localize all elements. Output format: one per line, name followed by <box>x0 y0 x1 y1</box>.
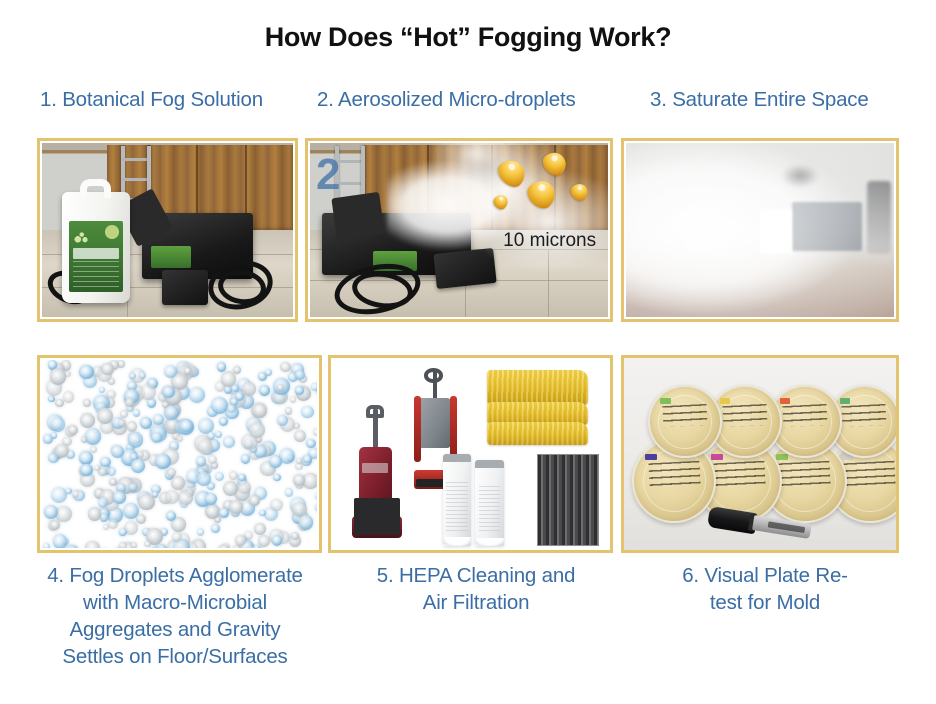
plate-color-tab <box>720 398 730 404</box>
fog-droplet <box>219 417 228 426</box>
fog-droplet <box>80 413 96 429</box>
fog-droplet <box>50 368 66 384</box>
air-purifier <box>443 454 504 546</box>
fog-droplet <box>273 474 281 482</box>
microfiber-towels <box>487 370 587 447</box>
oil-droplet-icons <box>492 153 599 233</box>
fog-droplet <box>265 369 272 376</box>
fog-droplet <box>172 532 182 542</box>
fog-droplet <box>215 472 224 481</box>
fog-droplet <box>285 407 293 415</box>
fog-droplet <box>55 399 64 408</box>
step-1-caption: 1. Botanical Fog Solution <box>40 88 263 112</box>
fog-droplet <box>208 455 217 464</box>
fog-droplet <box>79 451 93 465</box>
fog-droplet <box>164 406 179 421</box>
fog-overlay <box>626 143 894 317</box>
fog-droplet <box>235 535 246 546</box>
fog-droplet <box>217 362 226 371</box>
fog-droplet <box>223 481 238 496</box>
fog-droplet <box>119 542 127 548</box>
page-title: How Does “Hot” Fogging Work? <box>0 22 936 53</box>
fog-droplet <box>223 436 235 448</box>
fog-droplet <box>72 490 79 497</box>
fog-droplet <box>196 456 206 466</box>
plate-color-tab <box>645 454 657 460</box>
fog-droplet <box>294 430 306 442</box>
fog-droplet <box>133 409 141 417</box>
fog-droplet <box>113 491 126 504</box>
fog-droplet <box>277 384 284 391</box>
fog-droplet <box>290 396 297 403</box>
step-2-photo: 2 10 microns <box>310 143 608 317</box>
step-1-photo <box>42 143 293 317</box>
fog-droplet <box>131 542 138 548</box>
fog-droplet <box>97 408 113 424</box>
plate-handwritten-label <box>782 404 827 427</box>
droplet-icon <box>491 192 510 211</box>
fog-droplet <box>139 372 146 379</box>
step-6-photo <box>624 358 896 550</box>
plate-handwritten-label <box>844 460 896 487</box>
fog-droplet <box>197 528 204 535</box>
fog-droplet <box>242 382 255 395</box>
fog-droplet <box>253 403 268 418</box>
fog-droplet <box>215 431 222 438</box>
fog-droplet <box>285 488 294 497</box>
fog-droplet <box>315 492 317 500</box>
step-number-watermark: 2 <box>316 150 340 200</box>
fog-droplet <box>198 418 214 434</box>
petri-dish <box>648 385 721 459</box>
fog-droplet <box>50 520 60 530</box>
fog-droplet <box>108 519 118 529</box>
caption-line: Air Filtration <box>336 589 616 616</box>
fog-droplet <box>301 406 314 419</box>
plate-handwritten-label <box>842 404 887 427</box>
fog-droplet <box>43 543 50 548</box>
fog-droplet <box>219 508 228 517</box>
fog-droplet <box>55 444 68 457</box>
fog-droplet <box>311 383 317 390</box>
fog-droplet <box>166 511 176 521</box>
plate-color-tab <box>840 398 850 404</box>
droplet-icon <box>539 148 570 179</box>
fog-droplet <box>315 503 317 512</box>
fog-droplet <box>131 459 145 473</box>
fog-droplet <box>151 432 162 443</box>
fog-droplet <box>85 428 101 444</box>
fog-droplet <box>270 499 282 511</box>
fog-droplet <box>165 490 179 504</box>
step-1-image-panel <box>37 138 298 322</box>
fog-droplet <box>100 457 111 468</box>
fog-droplet <box>198 439 213 454</box>
fog-droplet <box>227 404 236 413</box>
fog-droplet <box>211 524 220 533</box>
fog-droplet <box>88 507 102 521</box>
fog-droplet <box>98 497 108 507</box>
fog-droplet <box>127 421 137 431</box>
fog-droplet <box>44 505 58 519</box>
fog-droplet <box>101 363 114 376</box>
fog-droplet <box>197 472 210 485</box>
fog-droplet <box>129 373 135 379</box>
fog-droplet <box>79 365 93 379</box>
plate-handwritten-label <box>648 460 701 487</box>
fog-droplet <box>94 465 100 471</box>
fog-droplet <box>299 515 314 530</box>
step-3-image-panel <box>621 138 899 322</box>
caption-line: 5. HEPA Cleaning and <box>336 562 616 589</box>
microns-label: 10 microns <box>503 230 596 252</box>
step-2-caption: 2. Aerosolized Micro-droplets <box>317 88 576 112</box>
fog-droplet <box>269 455 282 468</box>
fog-droplet <box>254 523 266 535</box>
upright-vacuum <box>351 408 404 539</box>
botanical-solution-jug <box>62 192 130 303</box>
step-2-image-panel: 2 10 microns <box>305 138 613 322</box>
caption-line: test for Mold <box>630 589 900 616</box>
fog-droplet <box>128 432 143 447</box>
fog-droplet <box>280 362 290 372</box>
fog-droplet <box>119 528 127 536</box>
fog-droplet <box>85 541 99 548</box>
bottom-caption-row: 4. Fog Droplets Agglomeratewith Macro-Mi… <box>0 562 936 702</box>
caption-line: Aggregates and Gravity <box>20 616 330 643</box>
fog-droplet <box>295 386 304 395</box>
fog-droplet <box>107 467 116 476</box>
fog-droplet <box>144 541 151 548</box>
fog-droplet <box>189 387 206 404</box>
plate-handwritten-label <box>779 460 832 487</box>
step-5-photo <box>331 358 610 550</box>
fog-droplet <box>272 535 282 545</box>
plate-color-tab <box>776 454 788 460</box>
step-4-photo <box>42 360 317 548</box>
fog-droplet <box>211 397 228 414</box>
droplet-icon <box>523 175 561 213</box>
plate-handwritten-label <box>662 404 707 427</box>
power-brick <box>162 270 207 305</box>
fog-droplet <box>83 399 91 407</box>
fog-droplet <box>90 446 98 454</box>
fog-droplet <box>180 420 192 432</box>
step-5-image-panel <box>328 355 613 553</box>
fog-droplet <box>313 428 317 436</box>
fog-droplet <box>63 391 75 403</box>
fog-droplet <box>136 514 146 524</box>
fog-droplet <box>295 463 302 470</box>
fog-droplet <box>171 476 185 490</box>
hepa-filter-panel <box>537 454 598 546</box>
fog-droplet <box>138 494 155 511</box>
caption-line: with Macro-Microbial <box>20 589 330 616</box>
fog-droplet <box>221 371 237 387</box>
fog-droplet <box>205 493 217 505</box>
plate-color-tab <box>780 398 790 404</box>
droplet-icon <box>494 155 531 192</box>
fog-droplet <box>109 478 117 486</box>
caption-line: 4. Fog Droplets Agglomerate <box>20 562 330 589</box>
plate-color-tab <box>711 454 723 460</box>
plate-handwritten-label <box>722 404 767 427</box>
caption-line: 6. Visual Plate Re- <box>630 562 900 589</box>
fog-droplet <box>68 425 78 435</box>
fog-droplet <box>120 410 128 418</box>
fog-droplet <box>254 545 260 548</box>
fog-droplet <box>140 384 156 400</box>
step-5-caption: 5. HEPA Cleaning andAir Filtration <box>336 562 616 616</box>
fog-droplet <box>51 417 66 432</box>
fog-droplet <box>306 439 316 449</box>
droplet-icon <box>568 180 591 203</box>
fog-droplet <box>249 495 260 506</box>
caption-line: Settles on Floor/Surfaces <box>20 643 330 670</box>
top-caption-row: 1. Botanical Fog Solution 2. Aerosolized… <box>0 88 936 120</box>
fog-droplet <box>259 385 270 396</box>
fog-droplet <box>155 454 171 470</box>
fog-droplet <box>51 432 57 438</box>
fog-droplet <box>229 500 243 514</box>
plate-color-tab <box>660 398 670 404</box>
fog-droplet <box>241 454 251 464</box>
fog-droplet <box>220 545 228 548</box>
fog-droplet <box>48 396 55 403</box>
fog-droplet <box>238 481 251 494</box>
fog-droplet <box>99 387 105 393</box>
step-6-image-panel <box>621 355 899 553</box>
fog-droplet <box>80 464 92 476</box>
fog-droplet <box>65 488 71 494</box>
droplet-agglomeration-field <box>42 360 317 548</box>
plate-handwritten-label <box>713 460 766 487</box>
step-6-caption: 6. Visual Plate Re-test for Mold <box>630 562 900 616</box>
step-3-caption: 3. Saturate Entire Space <box>650 88 869 112</box>
fog-droplet <box>249 422 265 438</box>
fog-droplet <box>178 491 193 506</box>
step-4-caption: 4. Fog Droplets Agglomeratewith Macro-Mi… <box>20 562 330 670</box>
fog-droplet <box>162 386 174 398</box>
fog-droplet <box>129 483 137 491</box>
step-3-photo <box>626 143 894 317</box>
step-4-image-panel <box>37 355 322 553</box>
